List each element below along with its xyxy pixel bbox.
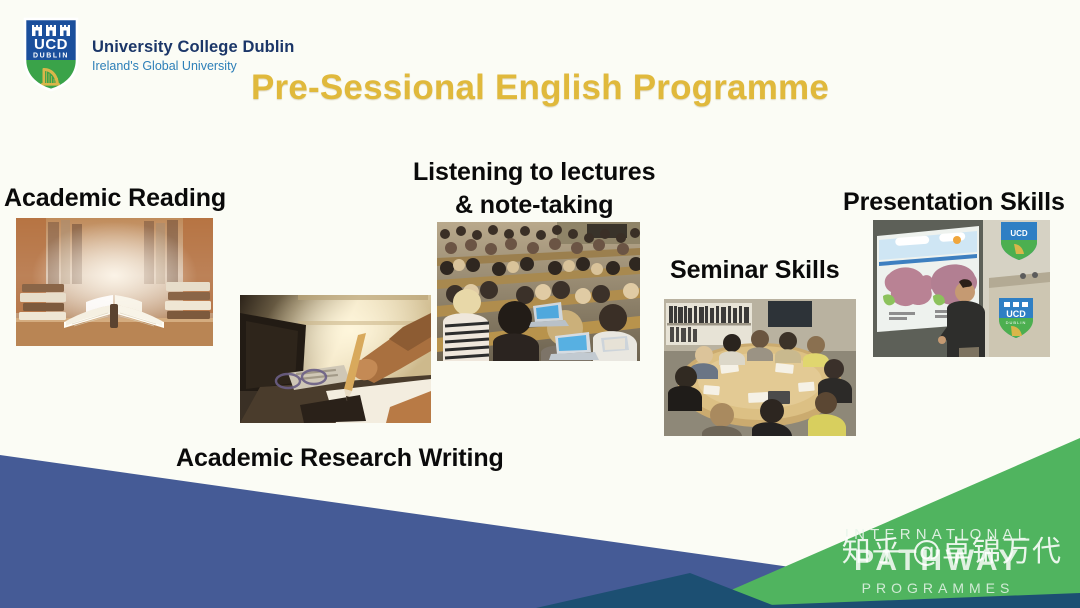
photo-academic-reading xyxy=(16,218,213,346)
caption-academic-reading: Academic Reading xyxy=(4,184,226,213)
caption-presentation-skills: Presentation Skills xyxy=(843,188,1065,217)
zhihu-watermark: 知乎 @卓锦万代 xyxy=(842,528,1062,570)
photo-seminar-group xyxy=(664,299,856,436)
svg-text:UCD: UCD xyxy=(1010,229,1028,238)
caption-listening-line2: & note-taking xyxy=(413,191,655,220)
photo-presentation: UCD UCD DUBLIN xyxy=(873,220,1050,357)
svg-text:DUBLIN: DUBLIN xyxy=(1006,320,1027,325)
slide-title: Pre-Sessional English Programme xyxy=(0,68,1080,108)
university-name: University College Dublin xyxy=(92,38,294,58)
caption-listening-note-taking: Listening to lectures & note-taking xyxy=(413,158,655,220)
banner-green-triangle xyxy=(690,438,1080,608)
photo-lecture-hall xyxy=(437,222,640,361)
svg-text:DUBLIN: DUBLIN xyxy=(33,53,69,60)
caption-listening-line1: Listening to lectures xyxy=(413,158,655,186)
svg-text:UCD: UCD xyxy=(1006,309,1026,319)
photo-academic-research-writing xyxy=(240,295,431,423)
bottom-banner xyxy=(0,433,1080,608)
svg-text:UCD: UCD xyxy=(34,36,68,53)
slide-canvas: UCD DUBLIN University College xyxy=(0,0,1080,608)
caption-seminar-skills: Seminar Skills xyxy=(670,256,840,285)
